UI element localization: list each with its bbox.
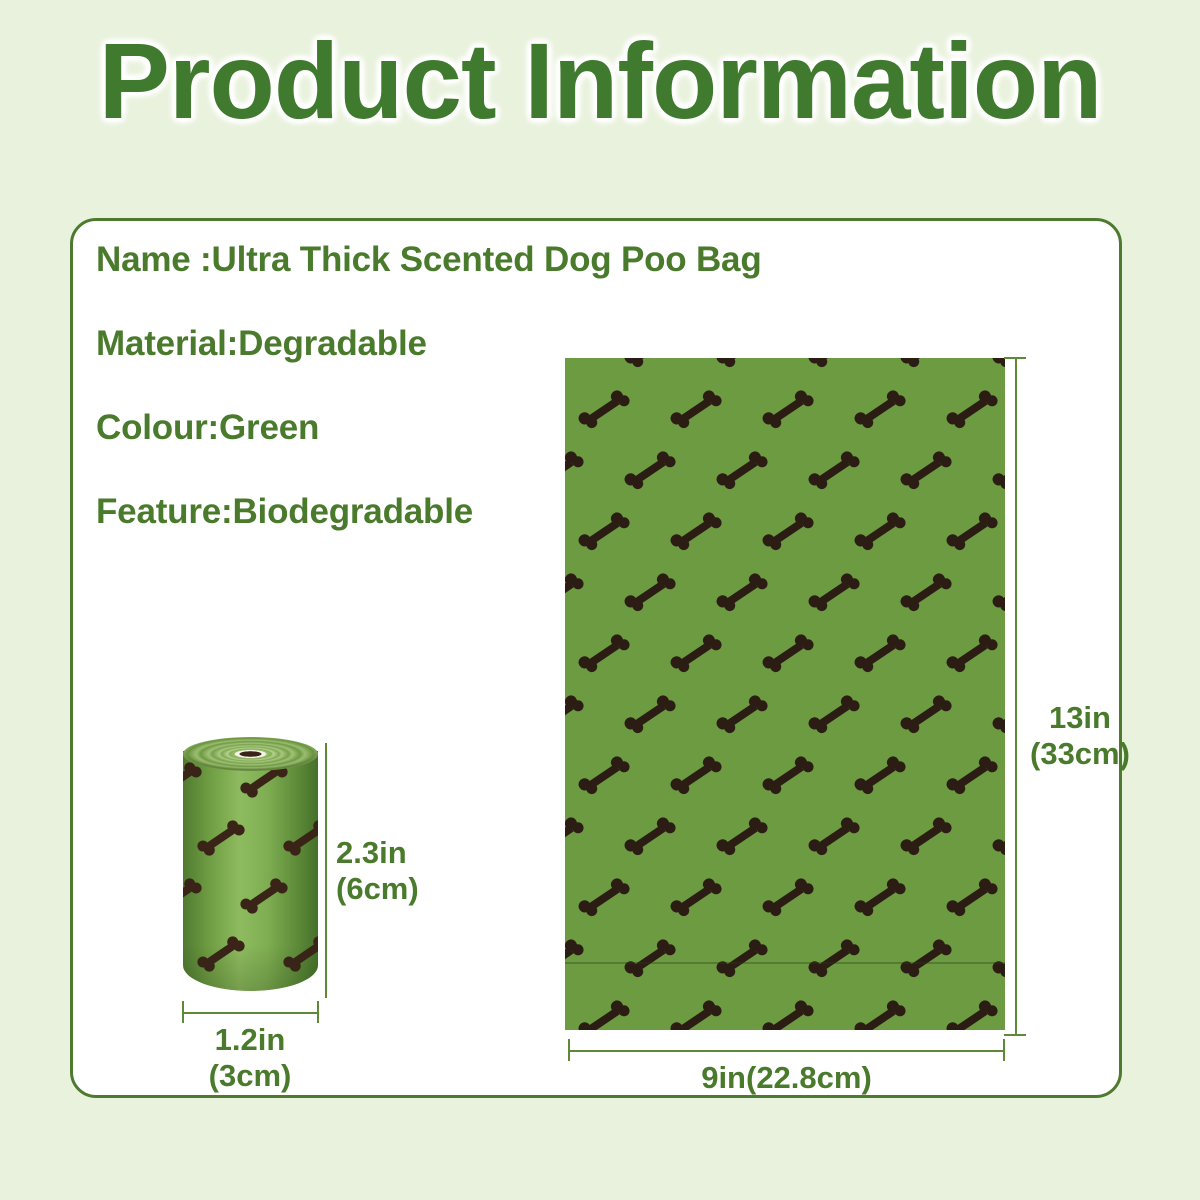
bag-width-left-tick <box>568 1039 570 1061</box>
bag-height-label-in: 13in <box>1030 700 1130 736</box>
bone-icon <box>714 936 769 982</box>
roll-height-dimension-line <box>325 743 327 998</box>
bone-icon <box>898 936 953 982</box>
bone-icon <box>668 387 723 433</box>
bone-icon <box>195 817 247 860</box>
bone-icon <box>714 448 769 494</box>
bone-icon <box>990 692 1005 738</box>
bone-icon <box>944 631 999 677</box>
bone-icon <box>852 875 907 921</box>
bone-icon <box>806 814 861 860</box>
bone-icon <box>565 814 586 860</box>
bone-icon <box>622 358 677 371</box>
bone-icon <box>852 997 907 1030</box>
bone-icon <box>760 387 815 433</box>
bone-icon <box>668 753 723 799</box>
product-roll-image <box>183 737 318 1005</box>
bone-icon <box>898 570 953 616</box>
bone-icon <box>898 358 953 371</box>
roll-spiral-top <box>183 737 318 771</box>
bone-icon <box>576 509 631 555</box>
bone-icon <box>760 753 815 799</box>
roll-height-label: 2.3in (6cm) <box>336 835 419 906</box>
bone-icon <box>944 509 999 555</box>
bag-height-dimension-line <box>1015 357 1017 1035</box>
page-title: Product Information <box>6 22 1194 141</box>
bone-icon <box>622 448 677 494</box>
bone-icon <box>576 875 631 921</box>
bag-height-bottom-tick <box>1004 1034 1026 1036</box>
bone-icon <box>565 358 586 371</box>
bone-icon <box>565 448 586 494</box>
bone-icon <box>852 509 907 555</box>
bone-icon <box>806 570 861 616</box>
roll-width-left-tick <box>182 1001 184 1023</box>
bone-icon <box>576 631 631 677</box>
bone-icon <box>806 692 861 738</box>
bone-icon <box>852 753 907 799</box>
bone-icon <box>714 692 769 738</box>
bone-icon <box>622 936 677 982</box>
roll-bottom-shade <box>183 945 318 991</box>
bone-icon <box>990 448 1005 494</box>
roll-width-label-in: 1.2in <box>160 1022 340 1058</box>
bag-bone-pattern <box>565 358 1005 1030</box>
bone-icon <box>238 875 290 918</box>
bone-icon <box>668 997 723 1030</box>
bag-width-dimension-line <box>568 1050 1005 1052</box>
roll-width-dimension-line <box>182 1012 319 1014</box>
bone-icon <box>944 875 999 921</box>
bone-icon <box>565 692 586 738</box>
bone-icon <box>990 358 1005 371</box>
bone-icon <box>183 875 204 918</box>
bone-icon <box>714 570 769 616</box>
bone-icon <box>622 692 677 738</box>
bone-icon <box>898 448 953 494</box>
bone-icon <box>806 448 861 494</box>
bone-icon <box>760 997 815 1030</box>
spec-row-name: Name :Ultra Thick Scented Dog Poo Bag <box>96 240 926 280</box>
bone-icon <box>898 814 953 860</box>
roll-height-label-in: 2.3in <box>336 835 419 871</box>
bone-icon <box>576 997 631 1030</box>
bone-icon <box>576 387 631 433</box>
bone-icon <box>990 936 1005 982</box>
bone-icon <box>668 631 723 677</box>
bone-icon <box>806 936 861 982</box>
bag-height-label-cm: (33cm) <box>1030 736 1130 772</box>
bag-seam-line <box>565 962 1005 964</box>
bone-icon <box>622 570 677 616</box>
roll-width-right-tick <box>317 1001 319 1023</box>
bone-icon <box>944 997 999 1030</box>
bone-icon <box>565 936 586 982</box>
bone-icon <box>668 509 723 555</box>
bone-icon <box>806 358 861 371</box>
bone-icon <box>852 631 907 677</box>
bone-icon <box>622 814 677 860</box>
bag-surface <box>565 358 1005 1030</box>
bone-icon <box>990 570 1005 616</box>
bone-icon <box>852 387 907 433</box>
roll-height-label-cm: (6cm) <box>336 871 419 907</box>
bag-width-label: 9in(22.8cm) <box>568 1060 1005 1096</box>
roll-width-label-cm: (3cm) <box>160 1058 340 1094</box>
roll-body <box>183 751 318 991</box>
bag-width-right-tick <box>1003 1039 1005 1061</box>
bone-icon <box>760 875 815 921</box>
bag-height-top-tick <box>1004 357 1026 359</box>
bone-icon <box>714 814 769 860</box>
bone-icon <box>760 509 815 555</box>
product-bag-image <box>565 358 1005 1030</box>
bone-icon <box>944 387 999 433</box>
bone-icon <box>944 753 999 799</box>
bone-icon <box>565 570 586 616</box>
bone-icon <box>714 358 769 371</box>
bag-height-label: 13in (33cm) <box>1030 700 1130 771</box>
bone-icon <box>668 875 723 921</box>
bone-icon <box>898 692 953 738</box>
bone-icon <box>576 753 631 799</box>
bone-icon <box>760 631 815 677</box>
bone-icon <box>990 814 1005 860</box>
roll-width-label: 1.2in (3cm) <box>160 1022 340 1093</box>
bone-icon <box>281 817 318 860</box>
